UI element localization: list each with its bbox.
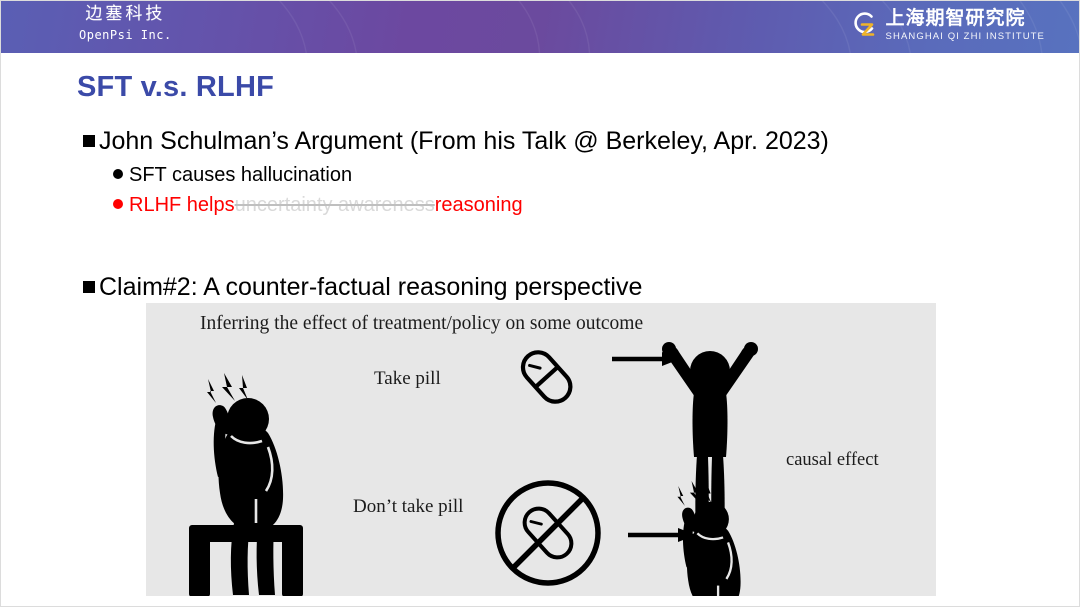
right-logo-en-name: SHANGHAI QI ZHI INSTITUTE bbox=[886, 32, 1045, 42]
square-bullet-icon bbox=[83, 135, 95, 147]
no-pill-prohibited-icon bbox=[498, 483, 598, 583]
left-logo-cn-name: 边塞科技 bbox=[79, 6, 172, 23]
square-bullet-icon bbox=[83, 281, 95, 293]
qizhi-monogram-icon bbox=[851, 10, 877, 40]
bullet-list: John Schulman’s Argument (From his Talk … bbox=[83, 127, 983, 302]
bullet-subitem-rlhf: RLHF helps uncertainty awareness reasoni… bbox=[113, 193, 983, 217]
bullet-item-john-schulman: John Schulman’s Argument (From his Talk … bbox=[83, 127, 983, 157]
round-bullet-icon bbox=[113, 169, 123, 179]
bullet-subitem-rlhf-struck-text: uncertainty awareness bbox=[235, 193, 435, 217]
bullet-item-john-schulman-label: John Schulman’s Argument (From his Talk … bbox=[99, 127, 829, 157]
bullet-subitem-rlhf-prefix: RLHF helps bbox=[129, 193, 235, 217]
figure-graphics bbox=[146, 303, 936, 596]
round-bullet-red-icon bbox=[113, 199, 123, 209]
bullet-item-claim2-label: Claim#2: A counter-factual reasoning per… bbox=[99, 273, 642, 303]
page-title: SFT v.s. RLHF bbox=[77, 71, 274, 104]
bullet-subitem-rlhf-suffix: reasoning bbox=[435, 193, 523, 217]
person-sick-seated-icon bbox=[189, 373, 303, 596]
right-logo: 上海期智研究院 SHANGHAI QI ZHI INSTITUTE bbox=[851, 9, 1045, 42]
person-sick-seated-icon bbox=[662, 481, 757, 596]
bullet-subitem-sft-label: SFT causes hallucination bbox=[129, 163, 352, 187]
causal-effect-figure: Inferring the effect of treatment/policy… bbox=[146, 303, 936, 596]
header-banner: 边塞科技 OpenPsi Inc. 上海期智研究院 SHANGHAI QI ZH… bbox=[1, 1, 1080, 53]
right-logo-text: 上海期智研究院 SHANGHAI QI ZHI INSTITUTE bbox=[886, 9, 1045, 42]
pill-capsule-icon bbox=[517, 346, 577, 408]
left-logo-en-name: OpenPsi Inc. bbox=[79, 29, 172, 41]
left-logo: 边塞科技 OpenPsi Inc. bbox=[79, 6, 172, 41]
bullet-subitem-sft: SFT causes hallucination bbox=[113, 163, 983, 187]
right-logo-cn-name: 上海期智研究院 bbox=[886, 7, 1026, 29]
slide: 边塞科技 OpenPsi Inc. 上海期智研究院 SHANGHAI QI ZH… bbox=[0, 0, 1080, 607]
bullet-item-claim2: Claim#2: A counter-factual reasoning per… bbox=[83, 273, 983, 303]
